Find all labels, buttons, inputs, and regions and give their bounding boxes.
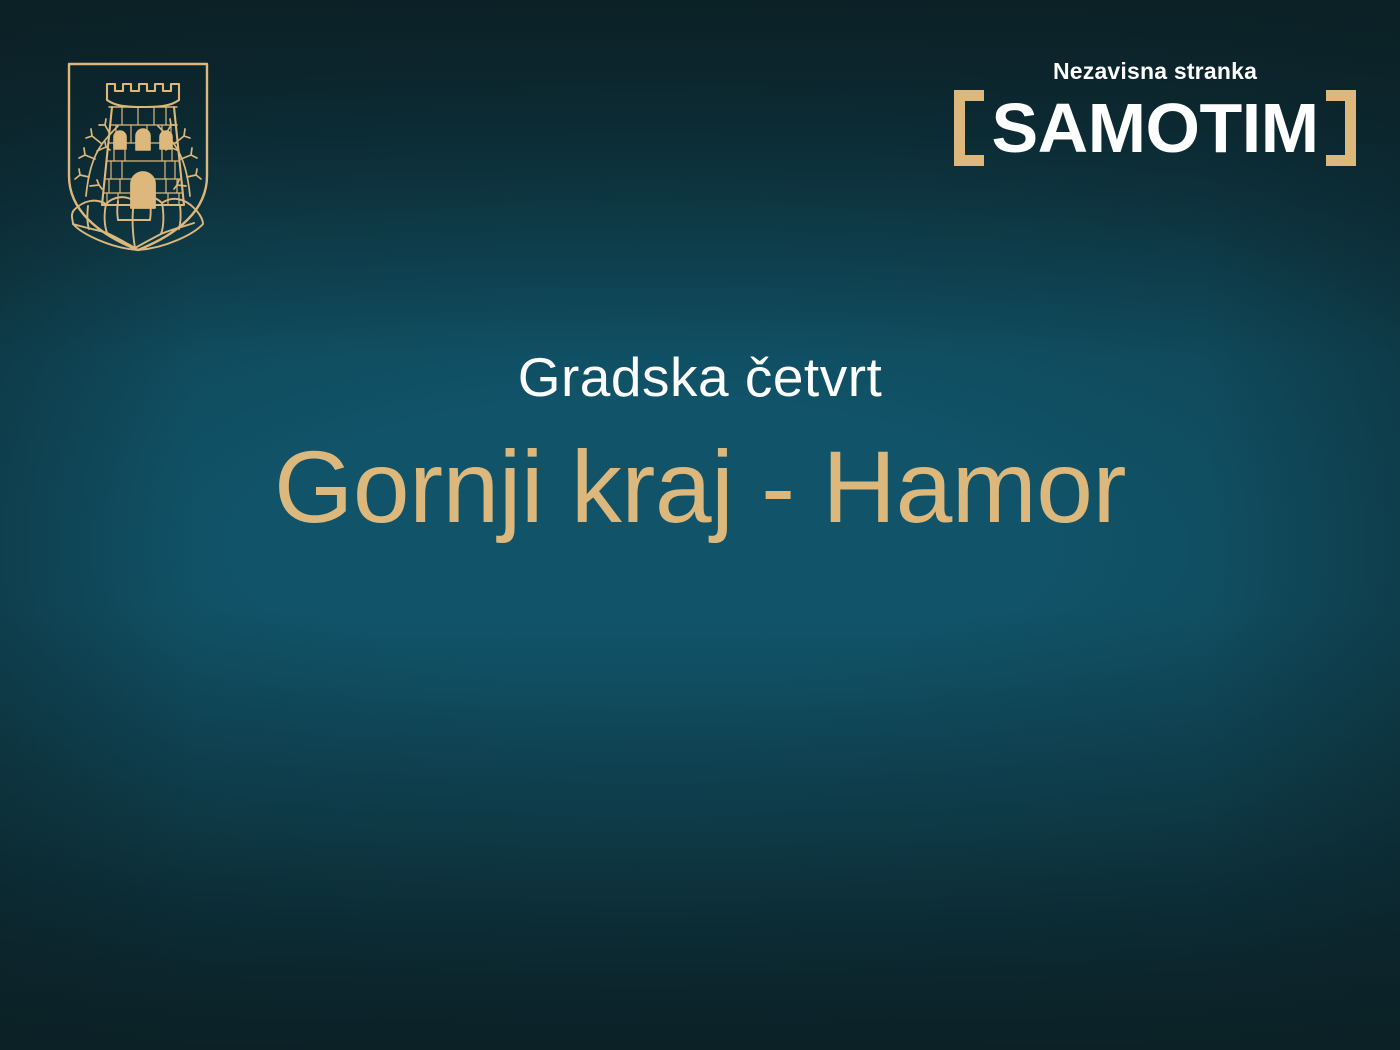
logo-wordmark: SAMOTIM [984, 93, 1325, 163]
tower-windows [114, 129, 172, 150]
logo-mark: SAMOTIM [972, 84, 1338, 172]
headline-block: Gradska četvrt Gornji kraj - Hamor [0, 344, 1400, 546]
bracket-left-icon [954, 90, 984, 166]
slide-title: Gornji kraj - Hamor [0, 428, 1400, 546]
coat-of-arms-crest [62, 58, 214, 254]
slide-kicker: Gradska četvrt [0, 344, 1400, 410]
branch-left [75, 119, 118, 196]
logo-tagline: Nezavisna stranka [972, 58, 1338, 85]
bracket-right-icon [1326, 90, 1356, 166]
samotim-logo: Nezavisna stranka SAMOTIM [972, 58, 1338, 176]
presentation-slide: Nezavisna stranka SAMOTIM Gradska četvrt… [0, 0, 1400, 1050]
tower-crenellations [107, 84, 179, 100]
